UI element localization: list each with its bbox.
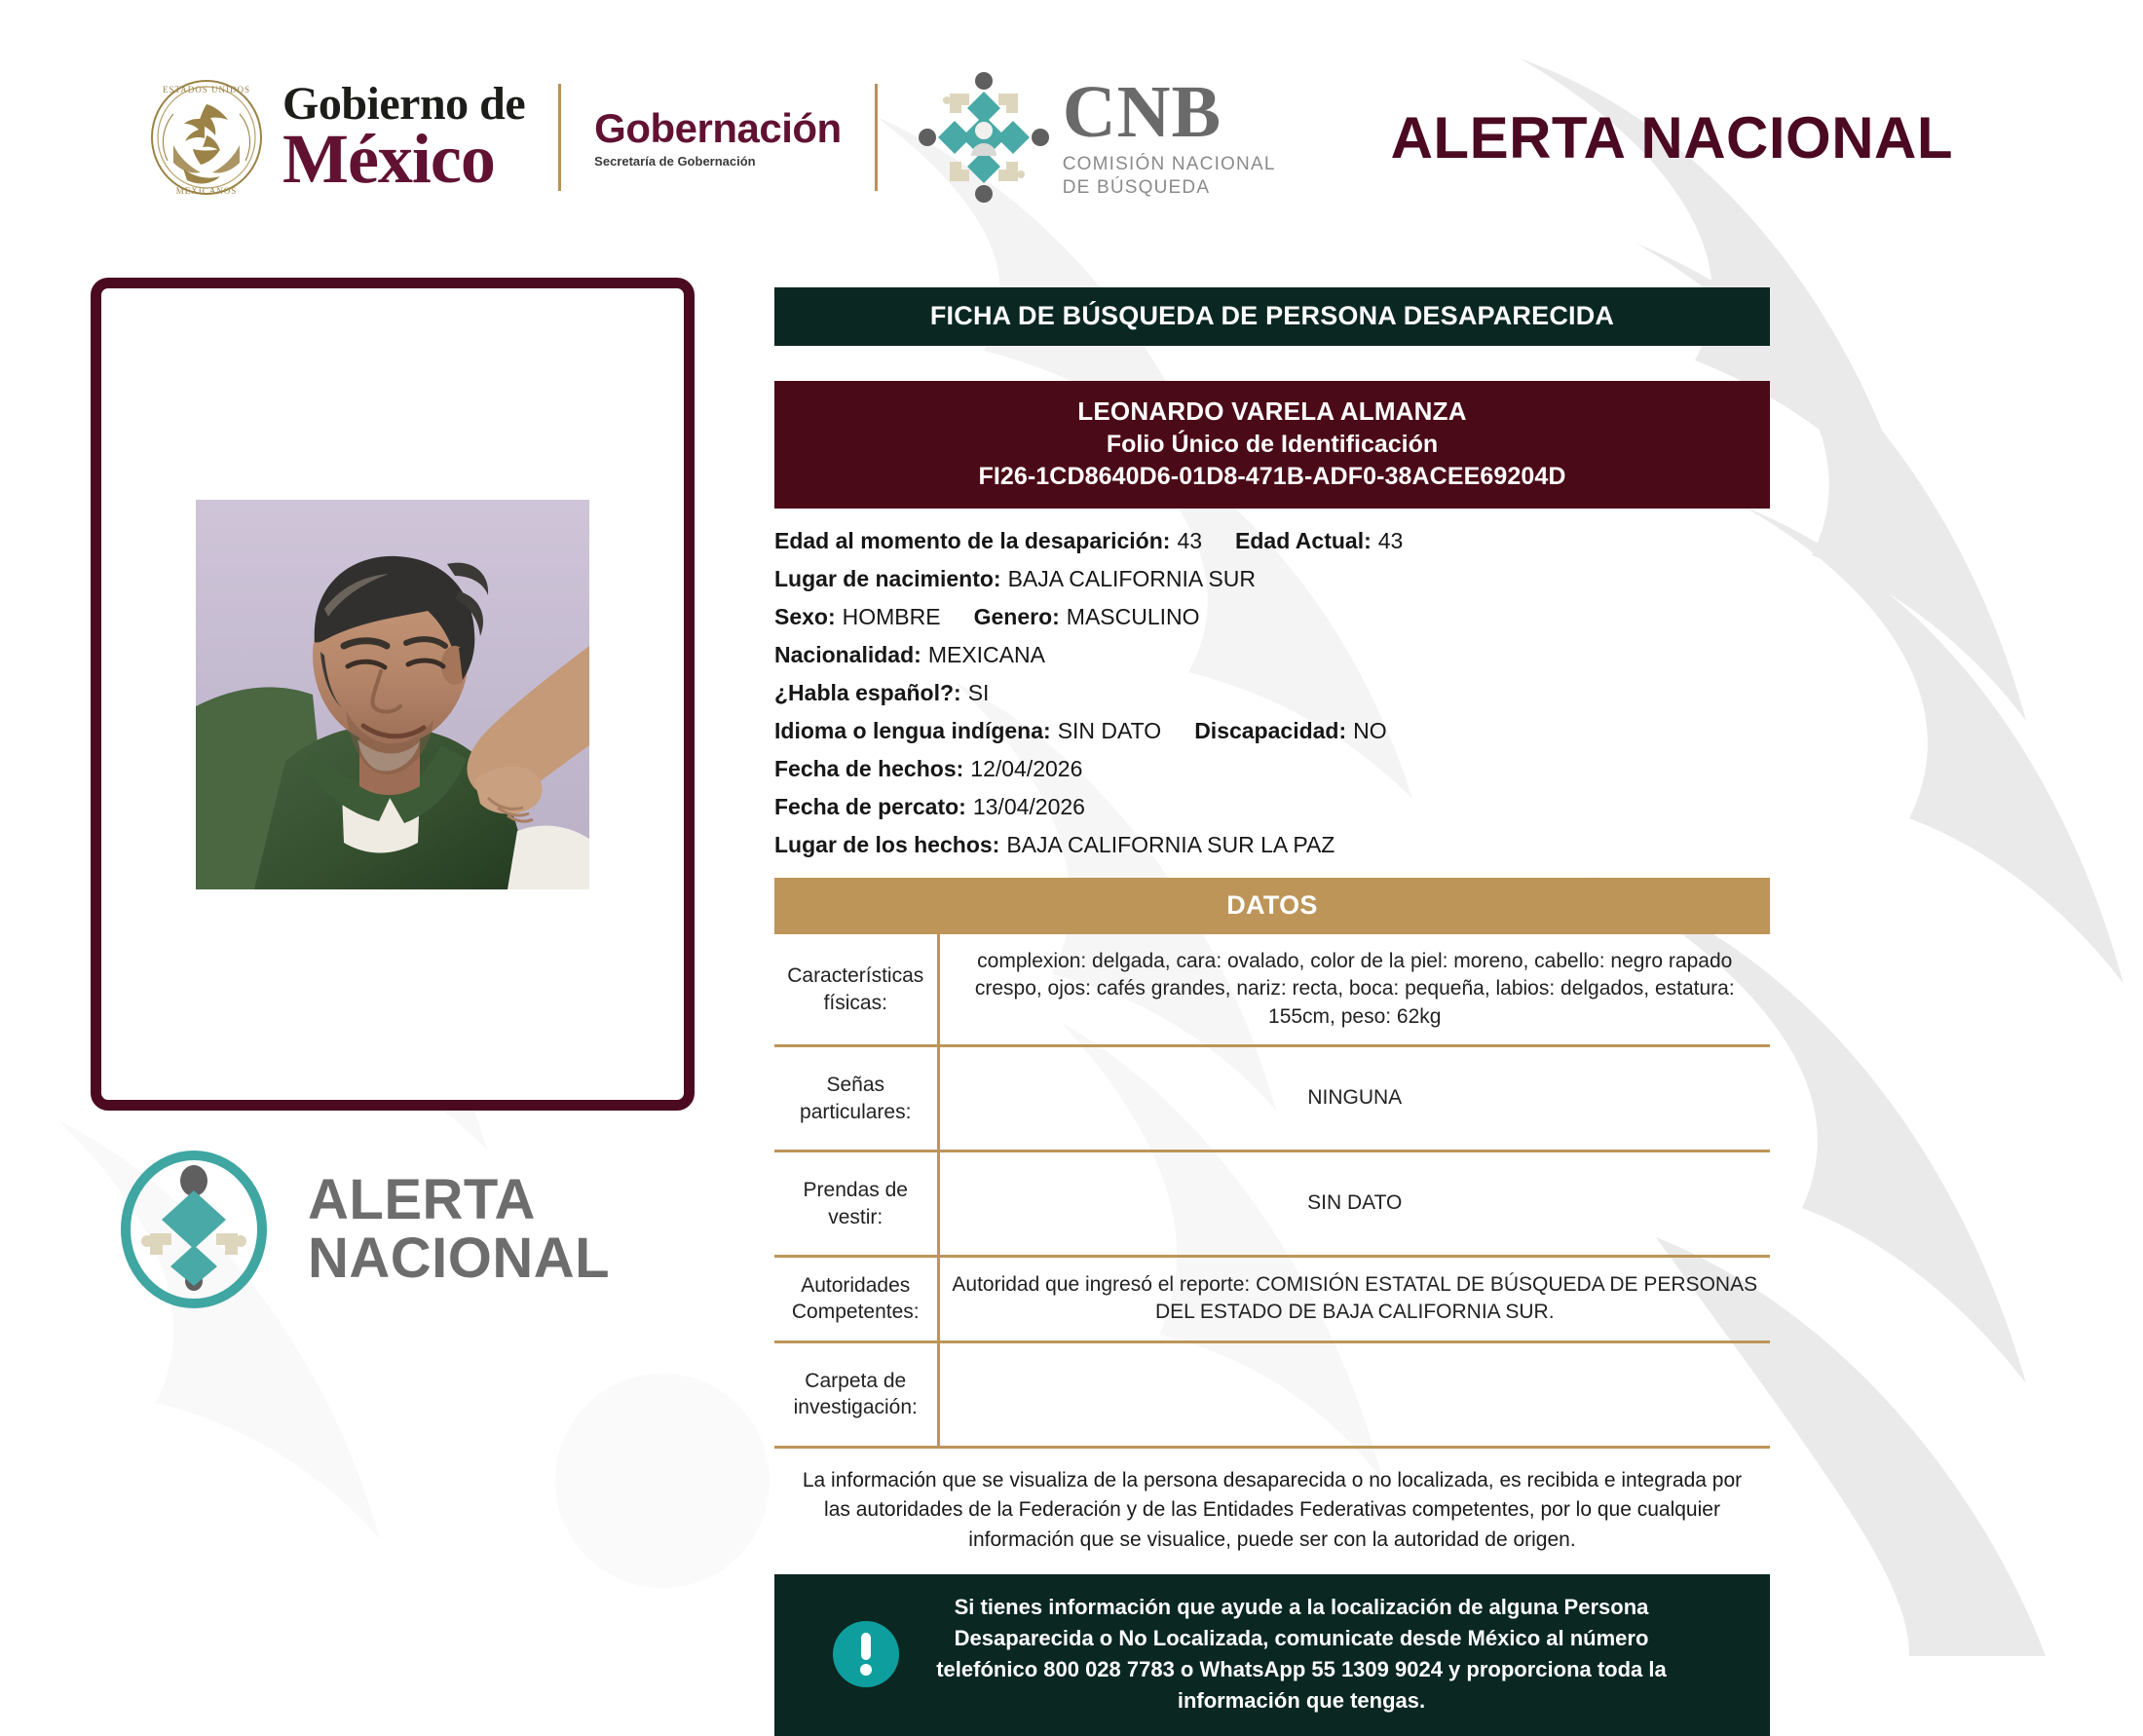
table-row: Prendas de vestir: SIN DATO xyxy=(774,1151,1770,1257)
person-details-list: Edad al momento de la desaparición:43Eda… xyxy=(774,522,1770,864)
event-date-label: Fecha de hechos: xyxy=(774,756,963,781)
datos-section-title: DATOS xyxy=(774,878,1770,934)
mexican-coat-of-arms-icon: ESTADOS UNIDOS MEXICANOS xyxy=(144,75,269,200)
birthplace-label: Lugar de nacimiento: xyxy=(774,566,1001,591)
field-row-speaks-spanish: ¿Habla español?:SI xyxy=(774,674,1770,712)
datos-value-caracteristicas: complexion: delgada, cara: ovalado, colo… xyxy=(938,934,1770,1046)
contact-text: Si tienes información que ayude a la loc… xyxy=(901,1592,1741,1717)
alerta-nacional-logo: ALERTA NACIONAL xyxy=(117,1148,610,1311)
table-row: Carpeta de investigación: xyxy=(774,1341,1770,1447)
field-row-language-disability: Idioma o lengua indígena:SIN DATODiscapa… xyxy=(774,712,1770,750)
mexico-label: México xyxy=(282,124,525,194)
datos-value-autoridades: Autoridad que ingresó el reporte: COMISI… xyxy=(938,1257,1770,1342)
alerta-nacional-title: ALERTA NACIONAL xyxy=(1391,104,1953,171)
nationality-label: Nacionalidad: xyxy=(774,642,921,667)
cnb-subtitle: COMISIÓN NACIONAL DE BÚSQUEDA xyxy=(1063,153,1276,200)
datos-key-caracteristicas: Características físicas: xyxy=(774,934,938,1046)
cnb-acronym: CNB xyxy=(1063,75,1276,149)
cnb-subtitle-line2: DE BÚSQUEDA xyxy=(1063,177,1211,198)
ficha-banner: FICHA DE BÚSQUEDA DE PERSONA DESAPARECID… xyxy=(774,287,1770,346)
folio-code: FI26-1CD8640D6-01D8-471B-ADF0-38ACEE6920… xyxy=(774,461,1770,493)
gender-label: Genero: xyxy=(974,604,1060,629)
cnb-logo: CNB COMISIÓN NACIONAL DE BÚSQUEDA xyxy=(911,64,1276,210)
table-row: Señas particulares: NINGUNA xyxy=(774,1046,1770,1151)
field-row-nationality: Nacionalidad:MEXICANA xyxy=(774,636,1770,674)
person-name: LEONARDO VARELA ALMANZA xyxy=(774,395,1770,429)
field-row-age: Edad al momento de la desaparición:43Eda… xyxy=(774,522,1770,560)
datos-key-autoridades: Autoridades Competentes: xyxy=(774,1257,938,1342)
field-row-event-date: Fecha de hechos:12/04/2026 xyxy=(774,750,1770,788)
photo-image xyxy=(196,500,589,889)
cnb-subtitle-line1: COMISIÓN NACIONAL xyxy=(1063,154,1276,174)
disclaimer-text: La información que se visualiza de la pe… xyxy=(774,1466,1770,1555)
datos-key-carpeta: Carpeta de investigación: xyxy=(774,1341,938,1447)
nationality-value: MEXICANA xyxy=(928,642,1045,667)
speaks-spanish-value: SI xyxy=(968,680,990,705)
notice-date-label: Fecha de percato: xyxy=(774,794,966,819)
person-identity-block: LEONARDO VARELA ALMANZA Folio Único de I… xyxy=(774,381,1770,509)
svg-text:MEXICANOS: MEXICANOS xyxy=(176,186,238,196)
event-place-label: Lugar de los hechos: xyxy=(774,832,999,857)
alerta-nacional-logo-text: ALERTA NACIONAL xyxy=(308,1171,610,1287)
age-at-disappearance-label: Edad al momento de la desaparición: xyxy=(774,528,1170,553)
alerta-logo-line2: NACIONAL xyxy=(308,1229,610,1288)
alerta-logo-line1: ALERTA xyxy=(308,1171,610,1229)
segob-title: Gobernación xyxy=(594,107,842,150)
ficha-page: ESTADOS UNIDOS MEXICANOS Gobierno de Méx… xyxy=(0,0,2143,1656)
header-divider-2 xyxy=(875,84,878,191)
alerta-nacional-emblem-icon xyxy=(117,1148,271,1311)
datos-key-senas: Señas particulares: xyxy=(774,1046,938,1151)
gender-value: MASCULINO xyxy=(1067,604,1200,629)
field-row-event-place: Lugar de los hechos:BAJA CALIFORNIA SUR … xyxy=(774,826,1770,864)
datos-key-prendas: Prendas de vestir: xyxy=(774,1151,938,1257)
disability-value: NO xyxy=(1353,718,1387,743)
contact-banner: Si tienes información que ayude a la loc… xyxy=(774,1574,1770,1736)
gobierno-de-mexico-logo: ESTADOS UNIDOS MEXICANOS Gobierno de Méx… xyxy=(144,75,525,200)
segob-logo: Gobernación Secretaría de Gobernación xyxy=(594,107,842,169)
datos-value-senas: NINGUNA xyxy=(938,1046,1770,1151)
missing-person-photo xyxy=(196,500,589,889)
datos-value-prendas: SIN DATO xyxy=(938,1151,1770,1257)
sex-value: HOMBRE xyxy=(843,604,941,629)
field-row-birthplace: Lugar de nacimiento:BAJA CALIFORNIA SUR xyxy=(774,560,1770,598)
ficha-content: FICHA DE BÚSQUEDA DE PERSONA DESAPARECID… xyxy=(774,287,1770,1736)
exclamation-icon xyxy=(831,1619,901,1689)
notice-date-value: 13/04/2026 xyxy=(973,794,1085,819)
segob-subtitle: Secretaría de Gobernación xyxy=(594,155,842,169)
folio-label: Folio Único de Identificación xyxy=(774,429,1770,461)
cnb-emblem-icon xyxy=(911,64,1057,210)
table-row: Características físicas: complexion: del… xyxy=(774,934,1770,1046)
indigenous-language-label: Idioma o lengua indígena: xyxy=(774,718,1051,743)
svg-text:ESTADOS UNIDOS: ESTADOS UNIDOS xyxy=(163,85,250,94)
header-divider-1 xyxy=(558,84,561,191)
current-age-value: 43 xyxy=(1378,528,1404,553)
event-place-value: BAJA CALIFORNIA SUR LA PAZ xyxy=(1006,832,1335,857)
datos-table: Características físicas: complexion: del… xyxy=(774,934,1770,1449)
sex-label: Sexo: xyxy=(774,604,836,629)
field-row-sex-gender: Sexo:HOMBREGenero:MASCULINO xyxy=(774,598,1770,636)
table-row: Autoridades Competentes: Autoridad que i… xyxy=(774,1257,1770,1342)
current-age-label: Edad Actual: xyxy=(1235,528,1372,553)
field-row-notice-date: Fecha de percato:13/04/2026 xyxy=(774,788,1770,826)
disability-label: Discapacidad: xyxy=(1194,718,1346,743)
indigenous-language-value: SIN DATO xyxy=(1058,718,1162,743)
birthplace-value: BAJA CALIFORNIA SUR xyxy=(1008,566,1256,591)
age-at-disappearance-value: 43 xyxy=(1177,528,1202,553)
page-header: ESTADOS UNIDOS MEXICANOS Gobierno de Méx… xyxy=(0,0,2143,275)
photo-frame xyxy=(91,278,695,1111)
event-date-value: 12/04/2026 xyxy=(970,756,1082,781)
speaks-spanish-label: ¿Habla español?: xyxy=(774,680,961,705)
datos-value-carpeta xyxy=(938,1341,1770,1447)
